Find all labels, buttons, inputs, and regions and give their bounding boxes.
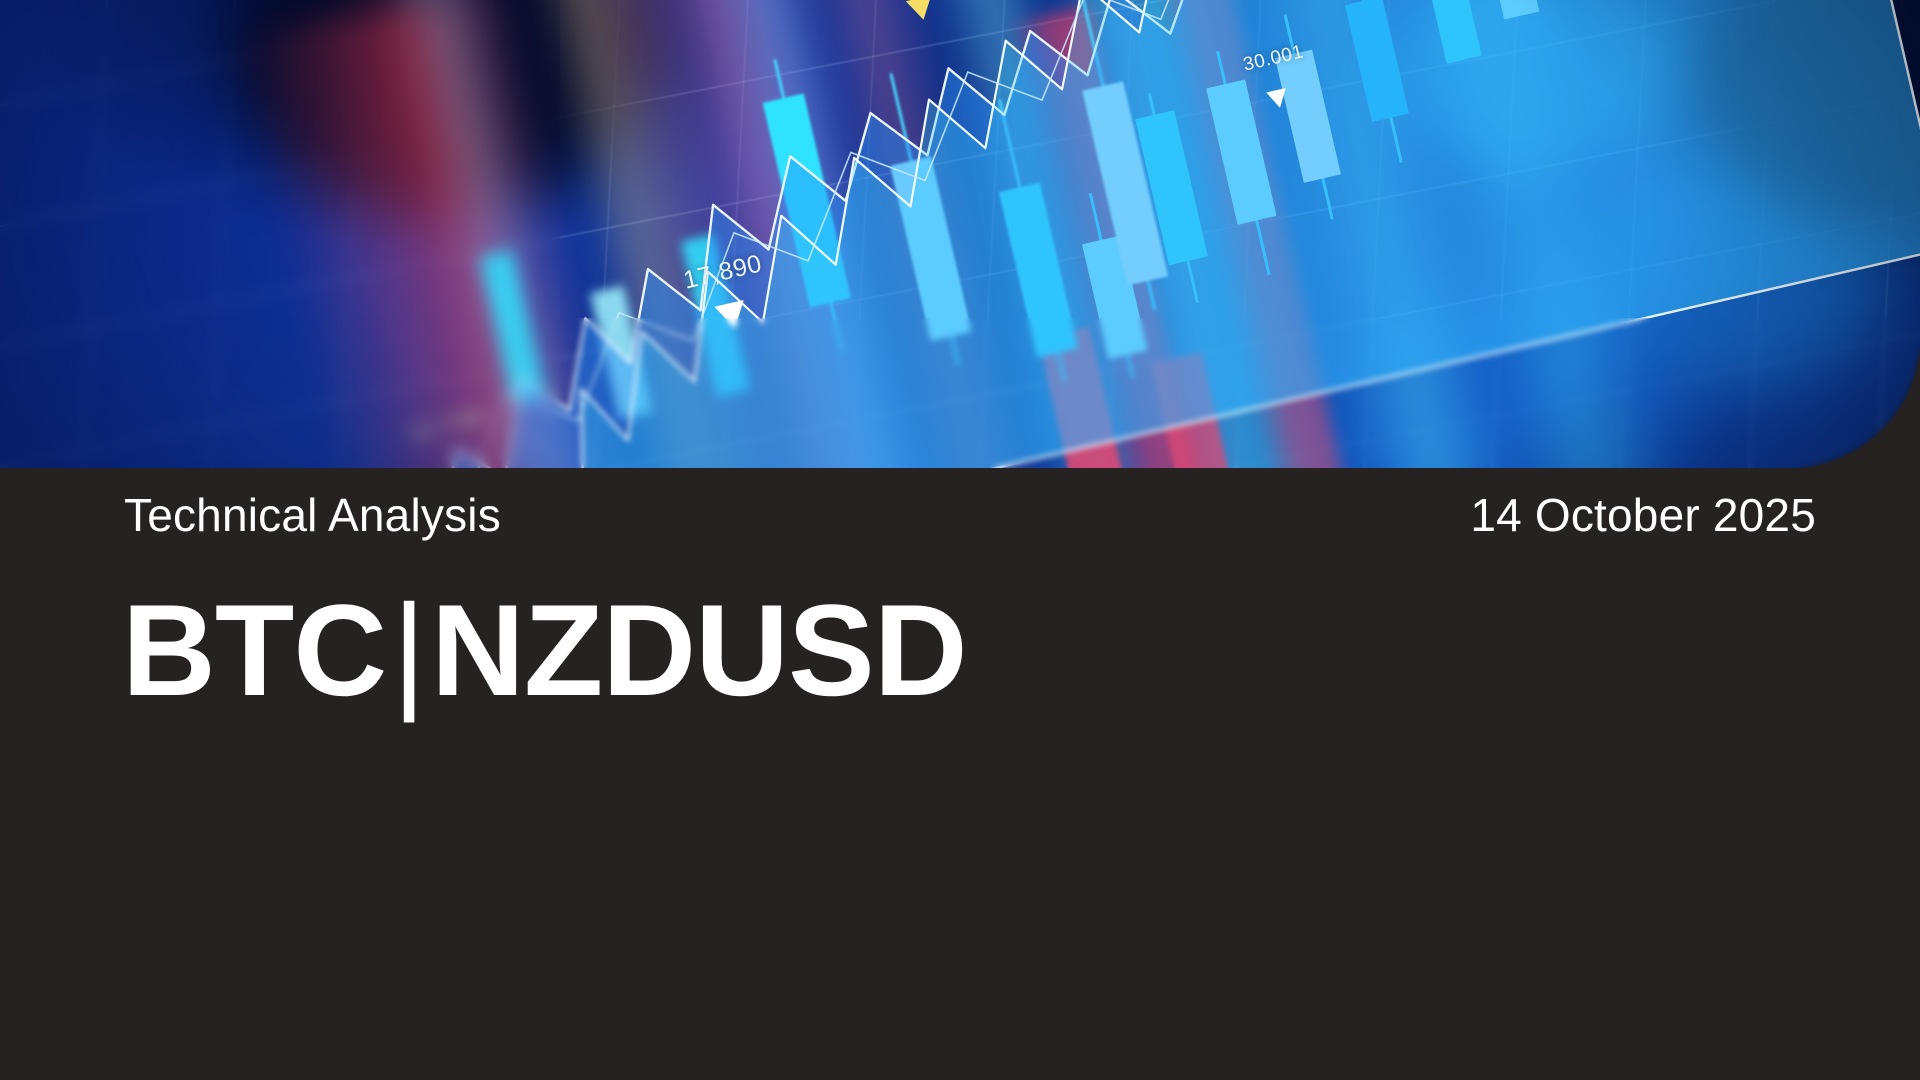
headline-separator: | xyxy=(386,577,431,723)
hero-artwork: 30.001 17,890 12,799 xyxy=(0,0,1920,468)
publish-date: 14 October 2025 xyxy=(1470,492,1816,538)
kicker-label: Technical Analysis xyxy=(124,492,501,538)
page-title: BTC|NZDUSD xyxy=(122,578,967,724)
headline-left: BTC xyxy=(122,577,386,723)
hero-image: 30.001 17,890 12,799 xyxy=(0,0,1920,468)
technical-analysis-card: 30.001 17,890 12,799 Technical Analysis … xyxy=(0,0,1920,1080)
area-series-secondary xyxy=(417,0,1920,468)
line-chart-svg xyxy=(0,0,1920,468)
meta-row: Technical Analysis 14 October 2025 xyxy=(124,492,1816,538)
headline-right: NZDUSD xyxy=(431,577,967,723)
line-chart-overlay xyxy=(0,0,1920,468)
card-content: Technical Analysis 14 October 2025 BTC|N… xyxy=(0,468,1920,1080)
